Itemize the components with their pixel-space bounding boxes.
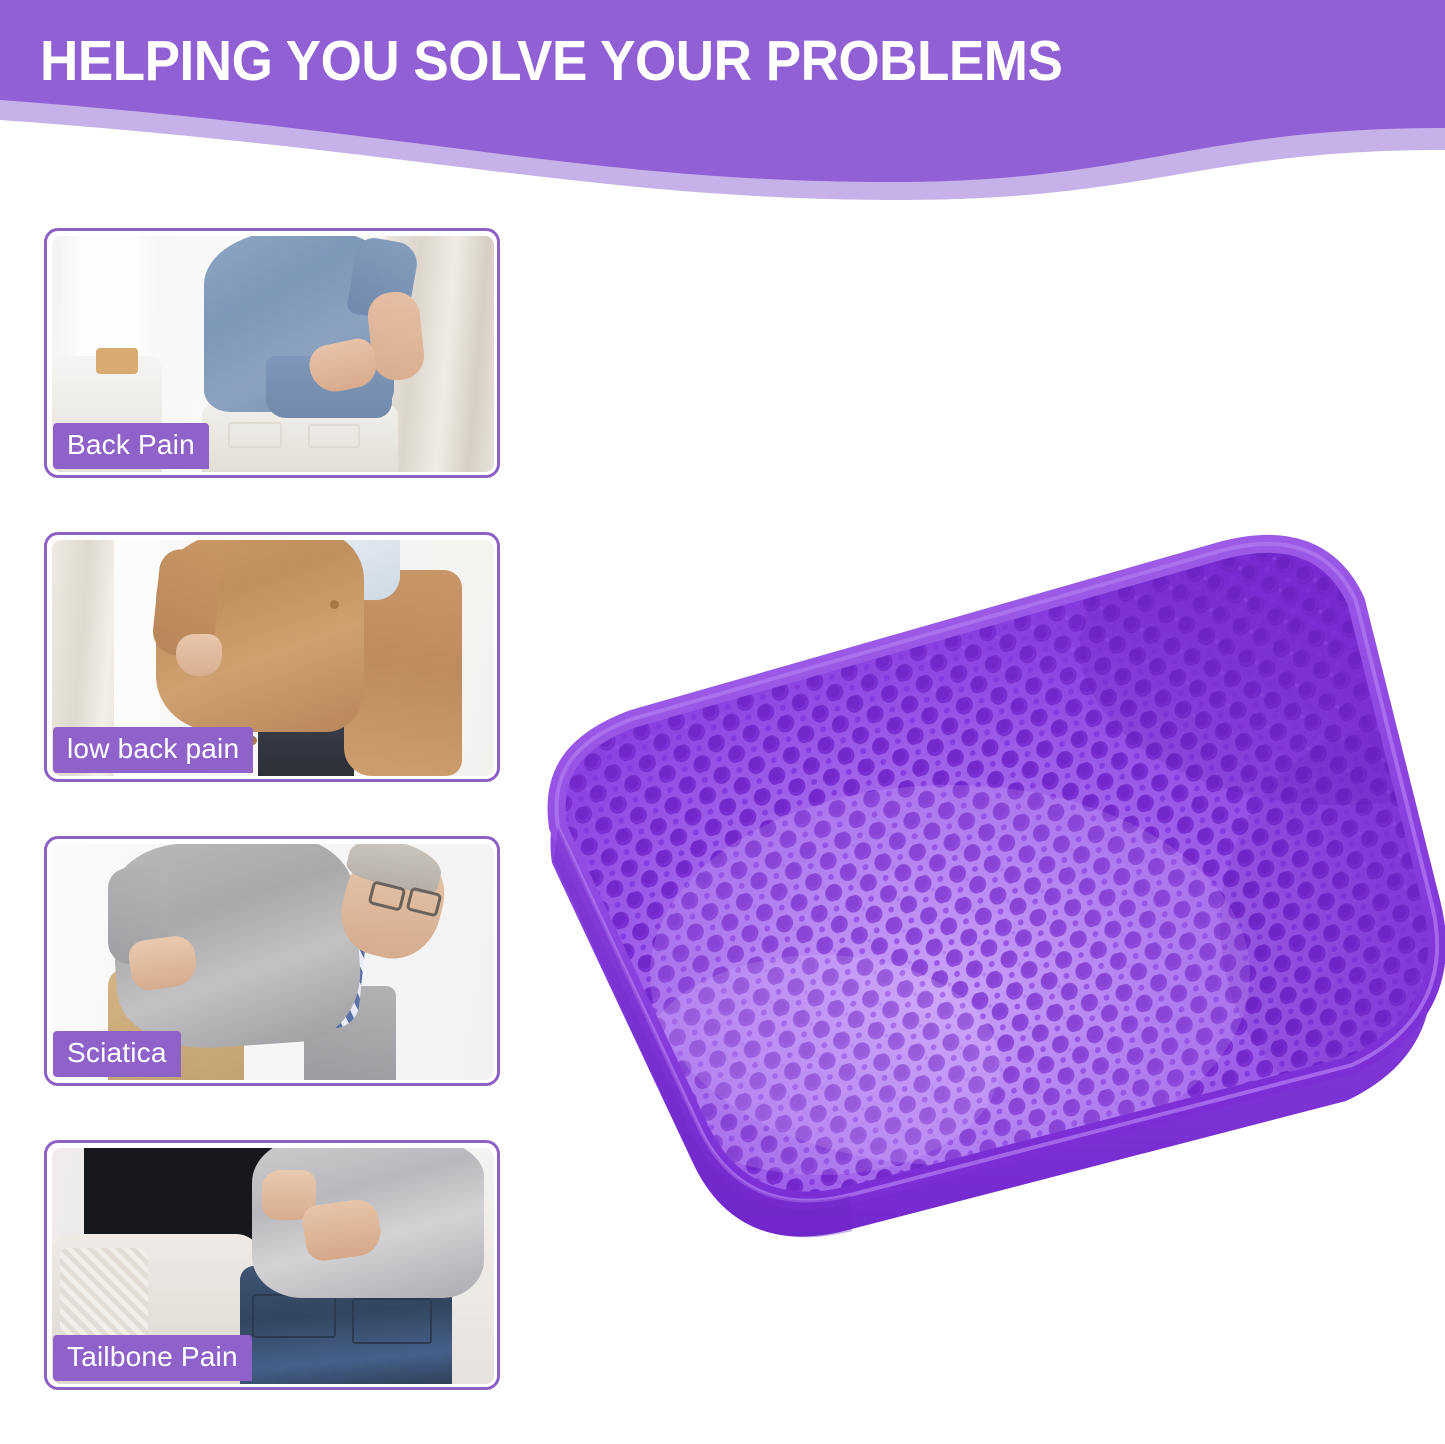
gel-cushion-graphic: [520, 505, 1445, 1245]
pain-condition-card-list: Back Pain low back pain: [44, 228, 500, 1444]
page-title: HELPING YOU SOLVE YOUR PROBLEMS: [40, 30, 1062, 93]
pain-card-label: low back pain: [53, 727, 253, 773]
pain-card-low-back-pain[interactable]: low back pain: [44, 532, 500, 782]
header-banner: HELPING YOU SOLVE YOUR PROBLEMS: [0, 0, 1445, 200]
pain-card-tailbone-pain[interactable]: Tailbone Pain: [44, 1140, 500, 1390]
pain-card-back-pain[interactable]: Back Pain: [44, 228, 500, 478]
pain-card-label: Sciatica: [53, 1031, 181, 1077]
pain-card-label: Back Pain: [53, 423, 209, 469]
pain-card-label: Tailbone Pain: [53, 1335, 252, 1381]
product-image-gel-seat-cushion: [520, 505, 1445, 1245]
pain-card-sciatica[interactable]: Sciatica: [44, 836, 500, 1086]
